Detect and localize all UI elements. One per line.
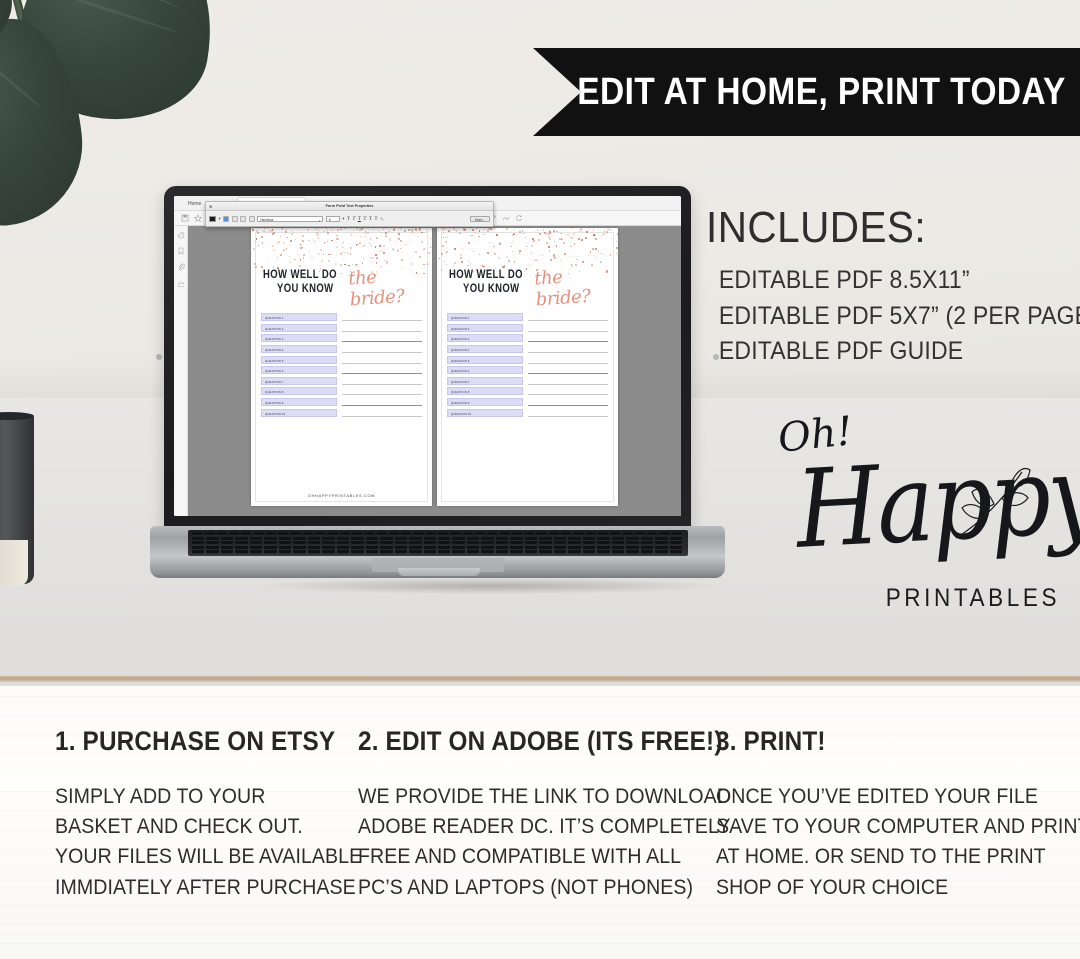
confetti-dot xyxy=(253,248,255,250)
confetti-dot xyxy=(508,260,510,262)
confetti-dot xyxy=(519,253,520,254)
font-size-input[interactable]: 8 xyxy=(326,216,340,223)
link-icon[interactable] xyxy=(380,217,385,222)
confetti-dot xyxy=(365,233,367,235)
question-form-field[interactable]: QUESTION 6 xyxy=(447,366,523,374)
confetti-dot xyxy=(507,256,509,258)
confetti-dot xyxy=(342,252,343,253)
question-row: QUESTION 9 xyxy=(447,397,608,408)
question-form-field[interactable]: QUESTION 3 xyxy=(261,334,337,342)
step-1-line-2: BASKET AND CHECK OUT. xyxy=(55,812,362,842)
confetti-dot xyxy=(280,254,282,256)
pdf-body: HOW WELL DO YOU KNOW the bride? QUESTION… xyxy=(174,226,681,516)
keyboard-key xyxy=(525,537,537,541)
keyboard-key xyxy=(322,546,334,550)
save-icon[interactable] xyxy=(181,214,189,222)
keyboard-key xyxy=(438,537,450,541)
keyboard-key xyxy=(626,541,638,545)
question-form-field[interactable]: QUESTION 9 xyxy=(447,398,523,406)
wood-grain-line xyxy=(0,734,1080,735)
confetti-dot xyxy=(328,260,329,261)
confetti-dot xyxy=(546,242,548,244)
confetti-dot xyxy=(603,254,604,255)
question-row: QUESTION 6 xyxy=(447,365,608,376)
question-form-field[interactable]: QUESTION 1 xyxy=(261,313,337,321)
confetti-dot xyxy=(351,234,353,236)
step-1-line-4: IMMDIATELY AFTER PURCHASE xyxy=(55,873,362,903)
keyboard-key xyxy=(426,532,436,536)
keyboard-key xyxy=(293,546,305,550)
confetti-dot xyxy=(289,244,291,246)
confetti-dot xyxy=(444,261,445,262)
keyboard-key xyxy=(380,537,392,541)
keyboard-key xyxy=(221,541,233,545)
confetti-dot xyxy=(392,248,394,250)
confetti-dot xyxy=(383,252,385,254)
keyboard-key xyxy=(510,541,522,545)
question-row: QUESTION 7 xyxy=(447,376,608,387)
confetti-dot xyxy=(582,261,584,263)
confetti-dot xyxy=(350,253,352,255)
confetti-dot xyxy=(586,231,587,232)
align-right-button[interactable] xyxy=(240,216,246,222)
includes-item-pdf-letter: EDITABLE PDF 8.5X11” xyxy=(706,263,1046,299)
confetti-dot xyxy=(553,230,555,232)
confetti-dot xyxy=(364,245,365,246)
confetti-dot xyxy=(340,264,342,266)
keyboard-key xyxy=(467,546,479,550)
confetti-dot xyxy=(471,235,472,236)
confetti-dot xyxy=(522,230,524,232)
chevron-down-icon[interactable]: ▾ xyxy=(319,218,321,225)
confetti-dot xyxy=(258,245,259,246)
confetti-dot xyxy=(537,229,539,231)
logo-happy-text: Happy xyxy=(793,431,1080,572)
confetti-dot xyxy=(529,265,531,267)
answer-line xyxy=(528,377,608,385)
confetti-dot xyxy=(455,230,456,231)
confetti-dot xyxy=(468,242,470,244)
confetti-dot xyxy=(344,252,345,253)
keyboard-key xyxy=(206,537,218,541)
text-color-swatch[interactable] xyxy=(209,216,216,222)
question-form-field[interactable]: QUESTION 7 xyxy=(447,377,523,385)
confetti-dot xyxy=(593,229,594,230)
keyboard-key xyxy=(206,550,218,554)
keyboard-key xyxy=(586,532,596,536)
dialog-title-text: Form Field Text Properties xyxy=(326,204,374,208)
confetti-dot xyxy=(419,256,421,258)
answer-line xyxy=(528,398,608,406)
question-form-field[interactable]: QUESTION 10 xyxy=(261,409,337,417)
confetti-dot xyxy=(534,231,535,232)
confetti-dot xyxy=(600,253,601,254)
question-form-field[interactable]: QUESTION 5 xyxy=(261,356,337,364)
step-1-line-3: YOUR FILES WILL BE AVAILABLE xyxy=(55,842,362,872)
keyboard-key xyxy=(366,550,378,554)
wood-grain-line xyxy=(0,829,1080,830)
confetti-dot xyxy=(352,264,353,265)
pdf-document-canvas[interactable]: HOW WELL DO YOU KNOW the bride? QUESTION… xyxy=(188,226,681,516)
instruction-steps-section: 1. PURCHASE ON ETSY SIMPLY ADD TO YOUR B… xyxy=(0,686,1080,959)
answer-line xyxy=(342,324,422,332)
text-style-subscript-icon[interactable]: T xyxy=(363,217,366,222)
confetti-dot xyxy=(363,258,365,260)
question-form-field[interactable]: QUESTION 2 xyxy=(261,324,337,332)
question-form-field[interactable]: QUESTION 10 xyxy=(447,409,523,417)
confetti-dot xyxy=(499,242,500,243)
star-icon[interactable] xyxy=(194,214,202,222)
answer-line xyxy=(342,334,422,342)
question-form-field[interactable]: QUESTION 8 xyxy=(447,387,523,395)
confetti-dot xyxy=(367,232,368,233)
confetti-dot xyxy=(423,264,424,265)
confetti-dot xyxy=(388,231,390,233)
keyboard-key xyxy=(598,532,608,536)
question-list-left: QUESTION 1QUESTION 2QUESTION 3QUESTION 4… xyxy=(261,312,422,418)
keyboard-key xyxy=(235,550,247,554)
confetti-dot xyxy=(553,254,555,256)
confetti-dot xyxy=(465,229,466,230)
confetti-dot xyxy=(598,229,599,230)
confetti-dot xyxy=(604,230,605,231)
confetti-dot xyxy=(309,251,310,252)
keyboard-key xyxy=(597,541,609,545)
keyboard-key xyxy=(322,550,334,554)
answer-line xyxy=(528,387,608,395)
confetti-dot xyxy=(273,232,275,234)
includes-item-pdf-guide: EDITABLE PDF GUIDE xyxy=(706,334,1046,370)
confetti-dot xyxy=(595,248,597,250)
confetti-dot xyxy=(308,230,309,231)
banner-edit-at-home: EDIT AT HOME, PRINT TODAY xyxy=(533,48,1080,136)
confetti-dot xyxy=(397,249,398,250)
confetti-dot xyxy=(512,251,513,252)
keyboard-key xyxy=(380,546,392,550)
confetti-dot xyxy=(317,235,318,236)
keyboard-key xyxy=(536,532,546,536)
confetti-dot xyxy=(300,244,301,245)
confetti-dot xyxy=(604,246,605,247)
answer-line xyxy=(342,409,422,417)
confetti-dot xyxy=(300,232,301,233)
confetti-dot xyxy=(542,255,543,256)
keyboard-key xyxy=(655,541,667,545)
confetti-dot xyxy=(493,244,494,245)
confetti-dot xyxy=(421,232,422,233)
question-form-field[interactable]: QUESTION 8 xyxy=(261,387,337,395)
confetti-dot xyxy=(461,261,463,263)
confetti-dot xyxy=(308,240,310,242)
confetti-dot xyxy=(592,248,594,250)
brand-logo: Oh! Happy PRINTABLES xyxy=(768,408,1038,633)
form-field-text-properties-dialog[interactable]: ✕ Form Field Text Properties ▾ Helvetica xyxy=(205,201,494,227)
keyboard-row xyxy=(192,546,684,550)
chevron-down-icon[interactable]: ▾ xyxy=(219,216,221,222)
keyboard-key xyxy=(395,541,407,545)
hero-photo: EDIT AT HOME, PRINT TODAY INCLUDES: EDIT… xyxy=(0,0,1080,686)
wood-grain-line xyxy=(0,715,1080,716)
confetti-dot xyxy=(318,238,319,239)
keyboard-key xyxy=(221,546,233,550)
confetti-dot xyxy=(472,229,474,231)
align-center-button[interactable] xyxy=(232,216,238,222)
step-1-body: SIMPLY ADD TO YOUR BASKET AND CHECK OUT.… xyxy=(55,782,362,903)
answer-line xyxy=(342,366,422,374)
confetti-dot xyxy=(595,235,597,237)
confetti-dot xyxy=(523,233,524,234)
keyboard-key xyxy=(481,537,493,541)
keyboard-key xyxy=(192,532,202,536)
printable-card-left[interactable]: HOW WELL DO YOU KNOW the bride? QUESTION… xyxy=(251,228,432,506)
text-style-regular-icon[interactable]: T xyxy=(347,217,350,222)
confetti-dot xyxy=(572,228,573,229)
confetti-dot xyxy=(256,238,258,240)
confetti-dot xyxy=(595,238,597,240)
logo-printables-text: PRINTABLES xyxy=(886,584,1060,613)
confetti-dot xyxy=(460,254,462,256)
question-form-field[interactable]: QUESTION 1 xyxy=(447,313,523,321)
confetti-dot xyxy=(610,254,611,255)
confetti-dot xyxy=(579,231,580,232)
bookmark-icon[interactable] xyxy=(177,247,185,255)
dialog-close-icon[interactable]: ✕ xyxy=(209,204,212,209)
confetti-dot xyxy=(561,238,563,240)
confetti-dot xyxy=(379,245,381,247)
keyboard-key xyxy=(561,532,571,536)
confetti-dot xyxy=(330,229,331,230)
keyboard-key xyxy=(510,537,522,541)
dialog-title-bar: ✕ Form Field Text Properties xyxy=(206,202,493,211)
align-justify-button[interactable] xyxy=(249,216,255,222)
attachment-icon[interactable] xyxy=(177,263,185,271)
question-form-field[interactable]: QUESTION 7 xyxy=(261,377,337,385)
keyboard-key xyxy=(452,550,464,554)
confetti-dot xyxy=(598,250,600,252)
confetti-dot xyxy=(543,230,544,231)
keyboard-key xyxy=(254,532,264,536)
confetti-dot xyxy=(567,234,568,235)
question-form-field[interactable]: QUESTION 5 xyxy=(447,356,523,364)
more-options-button[interactable]: More... xyxy=(470,216,490,223)
font-family-select[interactable]: Helvetica ▾ xyxy=(257,216,323,223)
question-row: QUESTION 10 xyxy=(447,407,608,418)
keyboard-key xyxy=(266,532,276,536)
confetti-dot xyxy=(347,252,349,254)
confetti-dot xyxy=(454,248,456,250)
confetti-dot xyxy=(342,247,343,248)
keyboard-key xyxy=(438,532,448,536)
confetti-dot xyxy=(291,233,293,235)
confetti-dot xyxy=(415,228,417,230)
chevron-down-icon[interactable]: ▾ xyxy=(342,216,344,222)
keyboard-key xyxy=(573,532,583,536)
confetti-dot xyxy=(405,244,406,245)
confetti-dot xyxy=(499,243,501,245)
keyboard-key xyxy=(377,532,387,536)
keyboard-key xyxy=(308,546,320,550)
question-form-field[interactable]: QUESTION 4 xyxy=(447,345,523,353)
keyboard-key xyxy=(496,537,508,541)
confetti-dot xyxy=(607,228,609,230)
confetti-dot xyxy=(581,239,583,241)
text-style-underline-icon[interactable]: T xyxy=(358,217,361,222)
confetti-dot xyxy=(489,242,490,243)
keyboard-key xyxy=(279,550,291,554)
question-form-field[interactable]: QUESTION 6 xyxy=(261,366,337,374)
confetti-dot xyxy=(335,263,337,265)
keyboard-key xyxy=(308,550,320,554)
confetti-dot xyxy=(369,243,370,244)
answer-line xyxy=(528,334,608,342)
confetti-dot xyxy=(273,250,275,252)
confetti-dot xyxy=(332,230,333,231)
page-thumbnails-icon[interactable] xyxy=(177,231,185,239)
question-row: QUESTION 3 xyxy=(261,333,422,344)
answer-line xyxy=(528,366,608,374)
confetti-dot xyxy=(549,251,550,252)
keyboard-key xyxy=(670,550,682,554)
confetti-dot xyxy=(340,253,341,254)
confetti-dot xyxy=(439,258,440,259)
keyboard-key xyxy=(366,541,378,545)
confetti-dot xyxy=(424,248,426,250)
confetti-dot xyxy=(320,249,322,251)
keyboard-key xyxy=(539,550,551,554)
confetti-dot xyxy=(493,246,495,248)
confetti-dot xyxy=(396,242,397,243)
confetti-dot xyxy=(286,237,288,239)
keyboard-key xyxy=(364,532,374,536)
keyboard-key xyxy=(337,541,349,545)
confetti-dot xyxy=(315,229,316,230)
keyboard-key xyxy=(539,541,551,545)
confetti-dot xyxy=(282,228,283,229)
keyboard-key xyxy=(500,532,510,536)
confetti-dot xyxy=(263,231,265,233)
answer-line xyxy=(342,356,422,364)
text-style-italic-icon[interactable]: T xyxy=(353,217,356,222)
step-3-line-1: ONCE YOU’VE EDITED YOUR FILE xyxy=(716,782,1080,812)
printable-card-right[interactable]: HOW WELL DO YOU KNOW the bride? QUESTION… xyxy=(437,228,618,506)
keyboard-key xyxy=(641,537,653,541)
question-form-field[interactable]: QUESTION 2 xyxy=(447,324,523,332)
answer-line xyxy=(342,377,422,385)
rotate-icon[interactable] xyxy=(515,214,523,222)
confetti-dot xyxy=(459,232,461,234)
keyboard-key xyxy=(481,550,493,554)
keyboard-key xyxy=(424,550,436,554)
wood-grain-line xyxy=(0,886,1080,887)
confetti-dot xyxy=(376,262,378,264)
confetti-dot xyxy=(390,240,391,241)
align-left-button[interactable] xyxy=(223,216,229,222)
question-form-field[interactable]: QUESTION 3 xyxy=(447,334,523,342)
answer-line xyxy=(528,356,608,364)
hinge-dot-right xyxy=(713,354,719,360)
keyboard-key xyxy=(672,532,682,536)
keyboard-key xyxy=(409,541,421,545)
confetti-dot xyxy=(470,263,471,264)
keyboard-key xyxy=(641,546,653,550)
confetti-dot xyxy=(445,241,447,243)
keyboard-key xyxy=(351,550,363,554)
confetti-dot xyxy=(357,244,359,246)
keyboard-key xyxy=(401,532,411,536)
keyboard-key xyxy=(438,541,450,545)
signature-icon[interactable] xyxy=(502,214,510,222)
confetti-dot xyxy=(555,245,556,246)
confetti-dot xyxy=(513,229,514,230)
keyboard-key xyxy=(250,546,262,550)
keyboard-key xyxy=(293,541,305,545)
confetti-dot xyxy=(277,257,278,258)
confetti-dot xyxy=(345,228,346,229)
question-row: QUESTION 5 xyxy=(447,354,608,365)
confetti-dot xyxy=(564,253,566,255)
text-style-smallcaps-icon[interactable]: T xyxy=(374,217,377,222)
answer-line xyxy=(528,324,608,332)
confetti-dot xyxy=(590,252,591,253)
confetti-dot xyxy=(468,261,469,262)
confetti-dot xyxy=(378,230,379,231)
question-form-field[interactable]: QUESTION 4 xyxy=(261,345,337,353)
confetti-dot xyxy=(445,253,446,254)
keyboard-key xyxy=(655,546,667,550)
confetti-dot xyxy=(464,230,465,231)
keyboard-key xyxy=(554,550,566,554)
confetti-dot xyxy=(480,265,481,266)
keyboard-key xyxy=(221,550,233,554)
confetti-dot xyxy=(373,229,374,230)
keyboard-key xyxy=(264,550,276,554)
confetti-dot xyxy=(577,256,578,257)
confetti-dot xyxy=(371,245,372,246)
confetti-dot xyxy=(412,231,414,233)
confetti-dot xyxy=(285,231,287,233)
confetti-dot xyxy=(380,250,381,251)
confetti-dot xyxy=(589,229,590,230)
sign-icon[interactable] xyxy=(177,279,185,287)
confetti-dot xyxy=(512,234,514,236)
keyboard-key xyxy=(612,537,624,541)
keyboard-key xyxy=(597,550,609,554)
confetti-dot xyxy=(462,248,463,249)
confetti-dot xyxy=(588,255,590,257)
keyboard-key xyxy=(597,537,609,541)
keyboard-key xyxy=(635,532,645,536)
keyboard-key xyxy=(452,541,464,545)
keyboard-key xyxy=(337,546,349,550)
confetti-dot xyxy=(393,229,395,231)
confetti-dot xyxy=(467,265,469,267)
confetti-dot xyxy=(487,230,488,231)
font-family-value: Helvetica xyxy=(260,218,273,222)
confetti-dot xyxy=(255,266,257,268)
confetti-dot xyxy=(301,228,302,229)
keyboard-key xyxy=(395,546,407,550)
question-row: QUESTION 2 xyxy=(261,323,422,334)
step-2-body: WE PROVIDE THE LINK TO DOWNLOAD ADOBE RE… xyxy=(358,782,735,903)
confetti-dot xyxy=(573,233,575,235)
keyboard-key xyxy=(241,532,251,536)
keyboard-key xyxy=(612,550,624,554)
confetti-dot xyxy=(415,251,417,253)
text-style-superscript-icon[interactable]: T xyxy=(369,217,372,222)
keyboard-key xyxy=(327,532,337,536)
question-form-field[interactable]: QUESTION 9 xyxy=(261,398,337,406)
wood-grain-line xyxy=(0,810,1080,811)
